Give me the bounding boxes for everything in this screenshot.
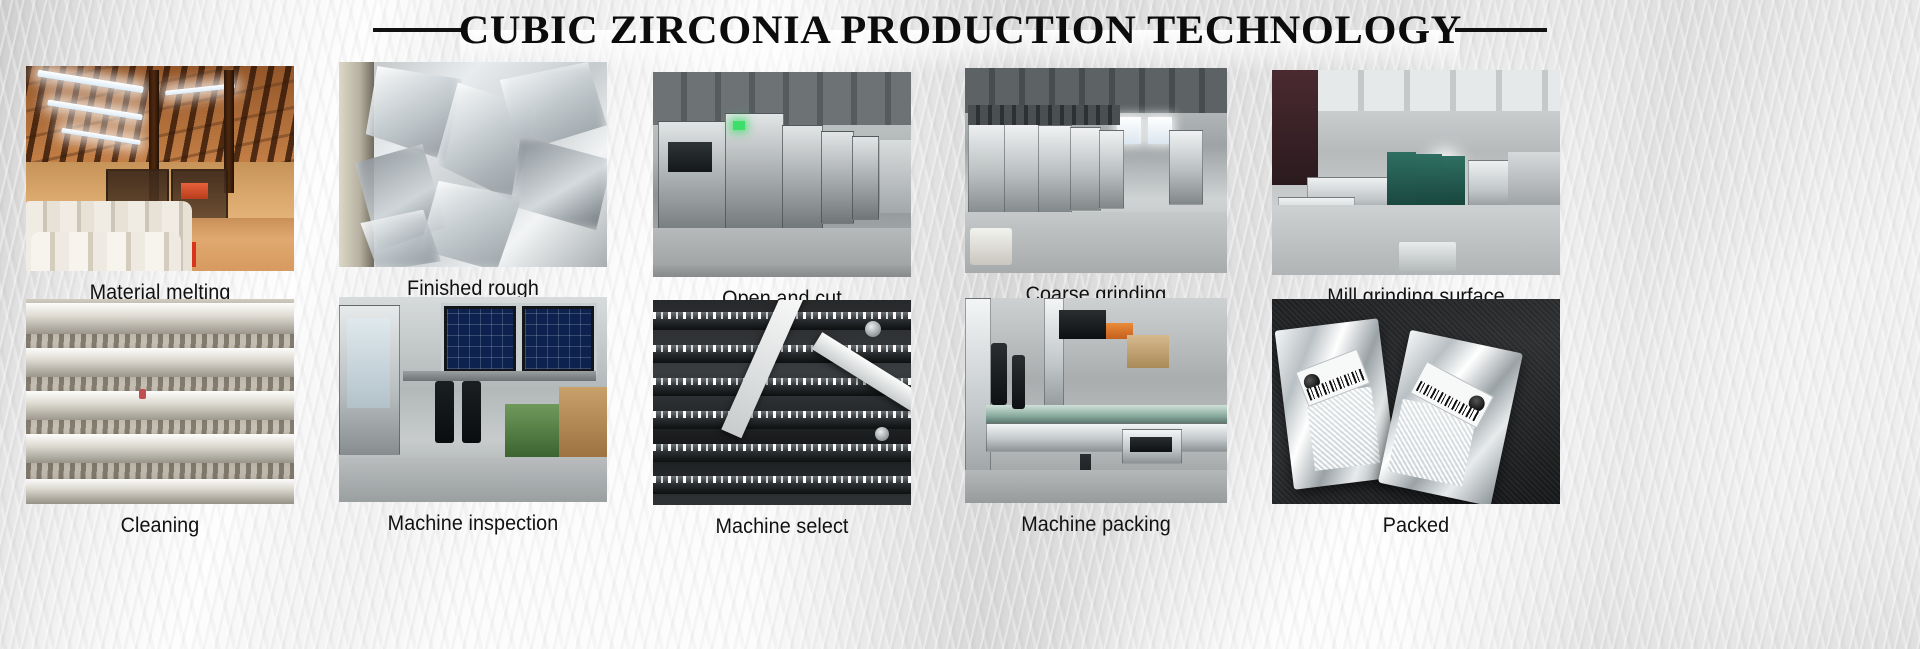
process-step-card[interactable]: Machine select: [653, 300, 911, 540]
process-step-card[interactable]: Material melting: [26, 66, 294, 306]
process-step-card[interactable]: Machine packing: [965, 298, 1227, 538]
process-step-card[interactable]: Coarse grinding: [965, 68, 1227, 308]
process-step-grid: Material melting Finished rough: [0, 64, 1920, 649]
process-step-card[interactable]: Packed: [1272, 299, 1560, 539]
mill-grinding-surface-photo: [1272, 70, 1560, 275]
production-technology-banner: CUBIC ZIRCONIA PRODUCTION TECHNOLOGY: [0, 0, 1920, 649]
step-caption: Packed: [1281, 513, 1552, 539]
title-rule-right-icon: [1455, 28, 1547, 32]
step-caption: Cleaning: [34, 513, 286, 539]
cleaning-photo: [26, 299, 294, 504]
process-step-card[interactable]: Cleaning: [26, 299, 294, 539]
finished-rough-photo: [339, 62, 607, 267]
machine-select-photo: [653, 300, 911, 505]
material-melting-photo: [26, 66, 294, 271]
machine-inspection-photo: [339, 297, 607, 502]
step-caption: Machine packing: [973, 512, 1219, 538]
banner-title: CUBIC ZIRCONIA PRODUCTION TECHNOLOGY: [458, 8, 1461, 52]
coarse-grinding-photo: [965, 68, 1227, 273]
process-step-card[interactable]: Finished rough: [339, 62, 607, 302]
process-step-card[interactable]: Open and cut: [653, 72, 911, 312]
open-and-cut-photo: [653, 72, 911, 277]
packed-photo: [1272, 299, 1560, 504]
banner-title-row: CUBIC ZIRCONIA PRODUCTION TECHNOLOGY: [0, 4, 1920, 56]
step-caption: Machine select: [661, 514, 904, 540]
process-step-card[interactable]: Mill grinding surface: [1272, 70, 1560, 310]
step-caption: Machine inspection: [347, 511, 599, 537]
process-step-card[interactable]: Machine inspection: [339, 297, 607, 537]
machine-packing-photo: [965, 298, 1227, 503]
title-rule-left-icon: [373, 28, 465, 32]
